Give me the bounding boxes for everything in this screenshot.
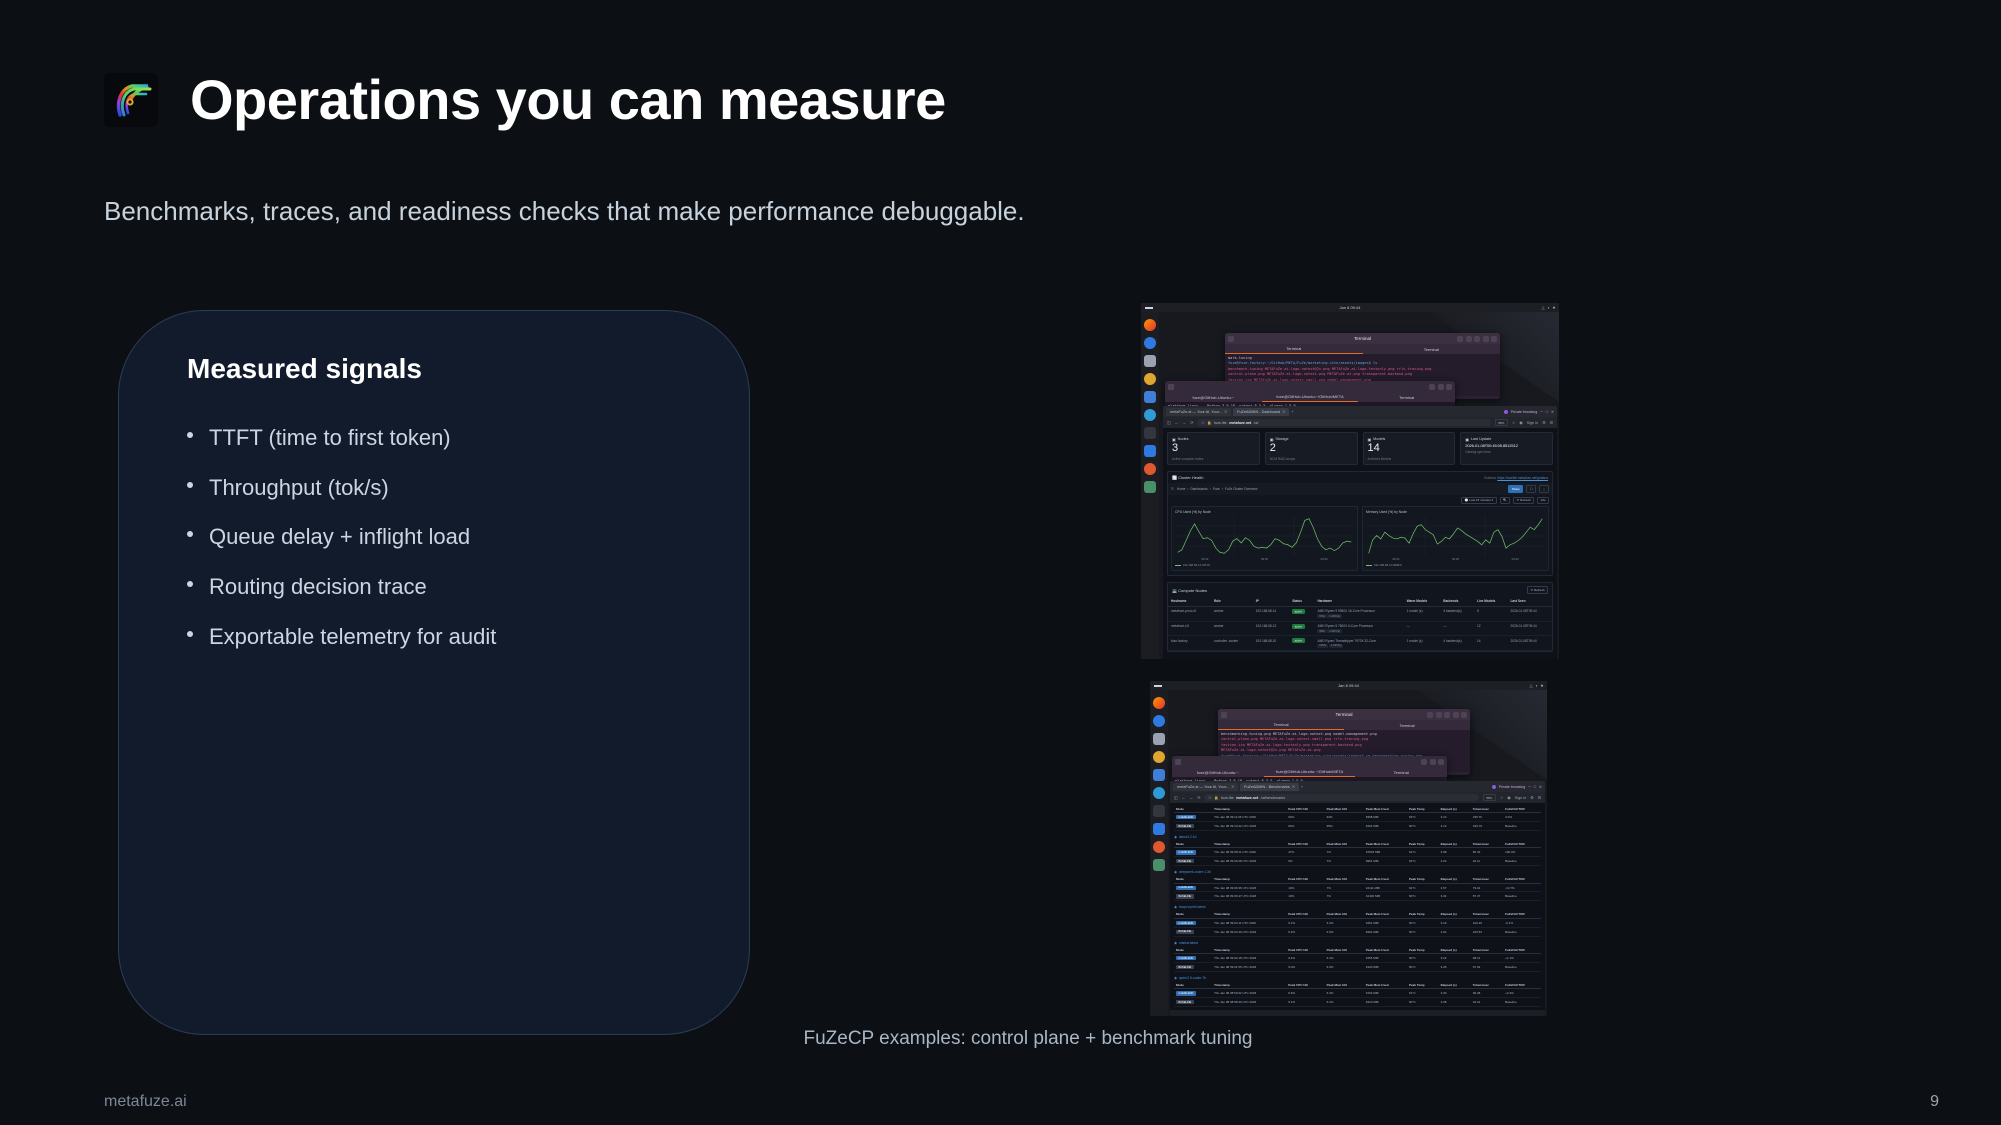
bm-col-header: Elapsed (s) [1439,805,1471,813]
breadcrumb-item[interactable]: Dashboards [1190,487,1207,491]
cell-tokens-per-sec: 98.14 [1471,954,1503,963]
table-header-row: ModeTimestampPeak CPU UtilPeak Mem UtilP… [1174,946,1541,954]
bm-col-header: Tokens/sec [1471,840,1503,848]
terminal-tab-2[interactable]: Terminal [1363,344,1501,354]
forward-icon[interactable]: → [1182,421,1186,425]
files-icon[interactable] [1153,733,1165,745]
breadcrumb-item[interactable]: FuZe Cluster Overview [1225,487,1258,491]
bm-col-header: Peak CPU Util [1286,840,1324,848]
lock-icon: 🔒 [1207,421,1211,425]
maximize-icon[interactable] [1430,759,1436,765]
terminal-secondary-tabstrip[interactable]: fuze@GitHub-Ubuntu:~ fuze@GitHub-Ubuntu:… [1172,767,1447,777]
cell-timestamp: Thu Jan 08 09:08:11 UTC 2026 [1212,848,1286,857]
more-options-icon[interactable]: ⋮ [1539,485,1549,493]
legend-label: 192.168.68.14 CPU% [1183,563,1210,567]
cell-ip: 192.168.68.13 [1253,621,1289,636]
mode-badge: FuZeBLEND [1176,956,1196,960]
stat-card-label: Nodes [1178,437,1189,441]
help-icon[interactable] [1153,787,1165,799]
cell-fuzefactor: +1.1% [1503,954,1541,963]
table-row[interactable]: metafuze-n3worker192.168.68.13activeAMD … [1168,621,1552,636]
table-row[interactable]: BASELINEThu Jan 08 08:58:30 UTC 20269.1%… [1174,998,1541,1007]
browser-tab-2[interactable]: FuZeADMIN - Dashboard ✕ [1233,408,1289,416]
bm-col-header: Peak Mem Util [1325,876,1364,884]
network-icon[interactable]: △ [1530,683,1533,688]
stat-card-sub: NCM RAID arrays [1270,457,1353,461]
bullet-icon [187,482,193,488]
bm-col-header: Peak CPU Util [1286,911,1324,919]
cell-fuzefactor: Baseline [1503,892,1541,901]
app-menu-icon[interactable]: ☰ [1538,795,1541,800]
models-icon: ▣ [1368,437,1372,442]
app-dock[interactable] [1141,312,1159,659]
browser-tab-1[interactable]: metaFuZe.ai — Your AI, Your... ✕ [1173,783,1238,791]
signal-item-label: Throughput (tok/s) [209,473,389,503]
stat-card: ▣Nodes3Active compute nodes [1167,432,1260,465]
sign-in-label[interactable]: Sign in [1515,796,1527,800]
search-icon[interactable] [1457,336,1463,342]
minimize-icon[interactable] [1429,384,1435,390]
reload-icon[interactable]: ⟳ [1190,420,1193,425]
activities-icon[interactable] [1154,685,1162,687]
benchmark-group-label: llama3.2:1b [1179,835,1197,839]
bm-col-header: Elapsed (s) [1439,981,1471,989]
cell-tokens-per-sec: 79.01 [1471,883,1503,892]
vscode-icon[interactable] [1153,823,1165,835]
zoom-level-badge[interactable]: 88% [1495,419,1508,427]
cell-peak-mem-used: 9961 MiB [1364,857,1407,866]
minimize-icon[interactable]: ─ [1528,785,1531,789]
cell-hostname[interactable]: fuze-factory [1168,636,1211,651]
refresh-interval-select[interactable]: 10s [1537,497,1549,505]
cell-peak-mem-util: 94% [1325,813,1364,822]
share-button[interactable]: Share [1508,485,1523,493]
breadcrumb-item[interactable]: Home [1177,487,1186,491]
table-row[interactable]: fuze-factorycontroller, worker192.168.68… [1168,636,1552,651]
browser-window-controls[interactable]: Private browsing ─ □ ✕ [1492,785,1542,789]
close-icon[interactable] [1491,336,1497,342]
software-icon[interactable] [1153,769,1165,781]
bm-col-header: Peak Temp [1407,911,1439,919]
table-header-row: HostnameRoleIPStatusHardwareWarm ModelsB… [1168,597,1552,607]
terminal-icon[interactable] [1144,427,1156,439]
bm-col-header: Peak Mem Used [1364,981,1407,989]
minimize-icon[interactable]: ─ [1540,410,1543,414]
cell-fuzefactor: Baseline [1503,927,1541,936]
chart-xaxis: 09:3009:3509:40 [1175,557,1354,561]
stat-card-value: 2026-01-08T00:45:05.8512512 [1465,443,1548,448]
window-controls[interactable] [1457,336,1497,342]
terminal-sec-tab-1-label: fuze@GitHub-Ubuntu:~ [1192,395,1234,400]
stat-card-value: 3 [1172,443,1255,455]
extensions-icon[interactable]: ⚙ [1542,420,1545,425]
measured-signals-card: Measured signals TTFT (time to first tok… [118,310,750,1035]
cluster-health-title-text: Cluster Health [1178,475,1203,480]
terminal-sec-tab-1[interactable]: fuze@GitHub-Ubuntu:~ [1172,767,1264,777]
terminal-tabstrip[interactable]: Terminal Terminal [1218,720,1470,730]
table-body: metafuze-prod-n2worker192.168.68.14activ… [1168,606,1552,650]
cell-timestamp: Thu Jan 08 09:04:11 UTC 2026 [1212,918,1286,927]
firefox-icon[interactable] [1153,697,1165,709]
settings-icon[interactable] [1153,751,1165,763]
url-path: /ui/benchmarks [1261,796,1285,800]
terminal-sec-tab-2[interactable]: fuze@GitHub-Ubuntu:~/GitHub/META [1264,767,1356,777]
terminal-titlebar[interactable]: Terminal [1225,333,1500,344]
back-icon[interactable]: ← [1182,796,1186,800]
footer-brand: metafuze.ai [104,1093,187,1111]
cell-warm-models: 1 model (s) [1404,606,1441,621]
server-icon: 💻 [1172,588,1177,593]
window-controls[interactable] [1421,759,1444,765]
cell-elapsed: 3.22 [1439,954,1471,963]
cell-hardware: AMD Ryzen Threadripper 7970X 32-Core125G… [1314,636,1403,651]
ubuntu-icon[interactable] [1144,463,1156,475]
address-bar[interactable]: ☉ 🔒 fuze-lite metafuze.net /ui/benchmark… [1204,794,1478,801]
legend-swatch [1175,565,1181,566]
new-tab-button[interactable]: + [1291,410,1293,414]
table-col-header: IP [1253,597,1289,607]
files-icon[interactable] [1144,355,1156,367]
browser-tab-1[interactable]: metaFuZe.ai — Your AI, Your... ✕ [1166,408,1231,416]
cell-fuzefactor: 3.0% [1503,813,1541,822]
table-row[interactable]: BASELINEThu Jan 08 09:06:28 UTC 20269%7%… [1174,857,1541,866]
cell-mode: BASELINE [1174,892,1212,901]
terminal-titlebar[interactable]: Terminal [1218,709,1470,720]
cell-peak-cpu: 47% [1286,848,1324,857]
metafuze-logo-icon [104,73,158,127]
bm-col-header: Elapsed (s) [1439,911,1471,919]
cell-timestamp: Thu Jan 08 09:06:47 UTC 2026 [1212,892,1286,901]
breadcrumb-item[interactable]: Fuze [1213,487,1220,491]
terminal-sec-tab-3[interactable]: Terminal [1358,392,1455,402]
cell-timestamp: Thu Jan 08 09:06:28 UTC 2026 [1212,857,1286,866]
trash-icon[interactable] [1144,481,1156,493]
back-icon[interactable]: ← [1175,421,1179,425]
chart-svg [1175,516,1354,556]
zoom-level-badge[interactable]: 88% [1483,794,1496,802]
grafana-link-prefix: Grafana: [1484,476,1496,480]
stat-card-header: ▣Models [1368,437,1451,442]
account-icon[interactable]: ◉ [1519,420,1522,425]
system-tray[interactable]: △ ◐ ⏺ [1530,683,1544,688]
terminal-sec-tab-1[interactable]: fuze@GitHub-Ubuntu:~ [1165,392,1262,402]
maximize-icon[interactable]: □ [1534,785,1536,789]
close-icon[interactable]: ✕ [1231,784,1234,789]
bm-col-header: Tokens/sec [1471,981,1503,989]
terminal-icon[interactable] [1153,805,1165,817]
extensions-icon[interactable]: ⚙ [1530,795,1533,800]
table-row[interactable]: FuZeBLENDThu Jan 08 08:59:02 UTC 20269.6… [1174,989,1541,998]
grafana-menu-icon[interactable]: ☰ [1171,487,1174,491]
compute-nodes-refresh-button[interactable]: ⟳ Refresh [1527,586,1548,594]
cell-fuzefactor: -13.7% [1503,883,1541,892]
cell-peak-mem-used: 9455 MiB [1364,954,1407,963]
tv-mode-icon[interactable]: ☐ [1526,485,1536,493]
storage-icon: ▣ [1270,437,1274,442]
cell-timestamp: Thu Jan 08 09:01:55 UTC 2026 [1212,962,1286,971]
table-row[interactable]: BASELINEThu Jan 08 09:10:42 UTC 202694%9… [1174,821,1541,830]
cell-peak-temp: 60°C [1407,962,1439,971]
mode-badge: FuZeBLEND [1176,886,1196,890]
table-row[interactable]: FuZeBLENDThu Jan 08 09:11:06 UTC 202693%… [1174,813,1541,822]
table-row[interactable]: metafuze-prod-n2worker192.168.68.14activ… [1168,606,1552,621]
bm-col-header: Peak Mem Util [1325,840,1364,848]
compute-nodes-title: 💻 Compute Nodes [1172,588,1207,593]
cell-backends: — [1440,621,1474,636]
grafana-link[interactable]: https://fuzelite.metafuze.net/grafana [1497,476,1548,480]
terminal-sec-tab-3[interactable]: Terminal [1355,767,1447,777]
ubuntu-icon[interactable] [1153,841,1165,853]
bm-col-header: Tokens/sec [1471,876,1503,884]
bookmark-star-icon[interactable]: ☆ [1500,795,1503,800]
system-tray[interactable]: △ ◐ ⏺ [1542,305,1556,310]
grafana-link-wrap[interactable]: Grafana: https://fuzelite.metafuze.net/g… [1484,476,1548,480]
close-icon[interactable]: ✕ [1224,409,1227,414]
bm-col-header: Elapsed (s) [1439,946,1471,954]
vscode-icon[interactable] [1144,445,1156,457]
trash-icon[interactable] [1153,859,1165,871]
firefox-icon[interactable] [1144,319,1156,331]
close-icon[interactable]: ✕ [1292,784,1295,789]
close-icon[interactable] [1438,759,1444,765]
slide-header: Operations you can measure [104,72,946,128]
browser-icon[interactable] [1153,715,1165,727]
table-row[interactable]: BASELINEThu Jan 08 09:04:40 UTC 20269.2%… [1174,927,1541,936]
cell-peak-temp: 60°C [1407,892,1439,901]
stat-card-label: Storage [1275,437,1288,441]
breadcrumb[interactable]: Home›Dashboards›Fuze›FuZe Cluster Overvi… [1177,487,1505,491]
bm-col-header: Peak Mem Used [1364,911,1407,919]
bm-col-header: Peak Temp [1407,981,1439,989]
cell-status: active [1289,636,1314,651]
bm-col-header: Timestamp [1212,911,1286,919]
help-icon[interactable] [1144,409,1156,421]
url-prefix: fuze-lite [1214,421,1227,425]
account-icon[interactable]: ◉ [1507,795,1510,800]
cell-status: active [1289,606,1314,621]
bookmark-star-icon[interactable]: ☆ [1512,420,1515,425]
cell-ip: 192.168.68.10 [1253,636,1289,651]
terminal-sec-tab-2-label: fuze@GitHub-Ubuntu:~/GitHub/META [1276,394,1343,399]
cell-hostname[interactable]: metafuze-prod-n2 [1168,606,1211,621]
maximize-icon[interactable]: □ [1546,410,1548,414]
cluster-health-panel: 📈 Cluster Health Grafana: https://fuzeli… [1167,471,1553,576]
browser-tabstrip[interactable]: metaFuZe.ai — Your AI, Your... ✕ FuZeADM… [1170,781,1545,792]
mode-badge: BASELINE [1176,894,1194,898]
browser-navbar[interactable]: ◫ ← → ⟳ ☉ 🔒 fuze-lite metafuze.net /ui/b… [1170,792,1545,803]
stat-card-value: 14 [1368,443,1451,455]
maximize-icon[interactable] [1453,712,1459,718]
hw-chip-1: 30Gi [1317,629,1326,633]
volume-icon[interactable]: ◐ [1536,683,1538,688]
app-dock[interactable] [1150,690,1168,1016]
browser-tab-2-label: FuZeADMIN - Dashboard [1237,410,1280,414]
cell-mode: BASELINE [1174,927,1212,936]
minimize-icon[interactable] [1444,712,1450,718]
close-icon[interactable]: ✕ [1539,785,1542,789]
chart-svg [1366,516,1545,556]
benchmark-table: ModeTimestampPeak CPU UtilPeak Mem UtilP… [1174,981,1541,1007]
browser-tabstrip[interactable]: metaFuZe.ai — Your AI, Your... ✕ FuZeADM… [1163,406,1557,417]
signal-item: Routing decision trace [187,572,709,602]
time-range-picker[interactable]: 🕓 Last 15 minutes ▾ [1461,497,1496,505]
terminal-tab-2[interactable]: Terminal [1344,720,1470,730]
browser-window-controls[interactable]: Private browsing ─ □ ✕ [1504,410,1554,414]
private-browsing-icon [1504,410,1508,414]
table-row[interactable]: FuZeBLENDThu Jan 08 09:06:36 UTC 202610%… [1174,883,1541,892]
cell-peak-cpu: 9.0% [1286,962,1324,971]
close-icon[interactable] [1446,384,1452,390]
grafana-toolbar[interactable]: 🕓 Last 15 minutes ▾ 🔍 ⟳ Refresh 10s [1168,495,1552,507]
table-row[interactable]: BASELINEThu Jan 08 09:06:47 UTC 202610%7… [1174,892,1541,901]
table-row[interactable]: FuZeBLENDThu Jan 08 09:02:18 UTC 20269.4… [1174,954,1541,963]
browser-window[interactable]: metaFuZe.ai — Your AI, Your... ✕ FuZeADM… [1170,781,1545,1016]
stat-card-sub: Active compute nodes [1172,457,1255,461]
cell-timestamp: Thu Jan 08 09:02:18 UTC 2026 [1212,954,1286,963]
bm-col-header: FuZeFACTOR [1503,981,1541,989]
cell-peak-cpu: 9.1% [1286,918,1324,927]
bm-col-header: Timestamp [1212,840,1286,848]
network-icon[interactable]: △ [1542,305,1545,310]
breadcrumb-separator: › [1210,487,1211,491]
benchmark-table: ModeTimestampPeak CPU UtilPeak Mem UtilP… [1174,876,1541,902]
activities-icon[interactable] [1145,307,1153,309]
cell-peak-mem-used: 10503 MiB [1364,848,1407,857]
signal-item-label: Queue delay + inflight load [209,522,470,552]
compute-nodes-refresh-label: Refresh [1534,588,1545,592]
browser-navbar[interactable]: ◫ ← → ⟳ ☉ 🔒 fuze-lite metafuze.net /ui/ … [1163,417,1557,428]
menu-icon[interactable] [1436,712,1442,718]
forward-icon[interactable]: → [1189,796,1193,800]
benchmark-group-title: ◉deepseek-coder:1.3b [1174,870,1541,874]
minimize-icon[interactable] [1474,336,1480,342]
minimize-icon[interactable] [1421,759,1427,765]
desktop-clock: Jan 8 09:44 [1340,305,1361,310]
close-icon[interactable] [1461,712,1467,718]
cell-peak-cpu: 94% [1286,821,1324,830]
close-icon[interactable]: ✕ [1551,410,1554,414]
terminal-tab-1[interactable]: Terminal [1218,720,1344,730]
table-row[interactable]: BASELINEThu Jan 08 09:01:55 UTC 20269.0%… [1174,962,1541,971]
cell-peak-cpu: 10% [1286,892,1324,901]
app-menu-icon[interactable]: ☰ [1550,420,1553,425]
legend-label: 192.168.68.14 MEM% [1374,563,1402,567]
benchmark-group-label: deepseek-coder:1.3b [1179,870,1211,874]
cell-peak-temp: 61°C [1407,989,1439,998]
url-prefix: fuze-lite [1221,796,1234,800]
cell-mode: BASELINE [1174,998,1212,1007]
new-tab-button[interactable]: + [1301,785,1303,789]
maximize-icon[interactable] [1438,384,1444,390]
reload-icon[interactable]: ⟳ [1197,795,1200,800]
terminal-sec-tab-2-label: fuze@GitHub-Ubuntu:~/GitHub/META [1276,769,1343,774]
cell-peak-cpu: 10% [1286,883,1324,892]
bm-col-header: Tokens/sec [1471,805,1503,813]
cell-mode: FuZeBLEND [1174,848,1212,857]
terminal-tab-1[interactable]: Terminal [1225,344,1363,354]
cell-hostname[interactable]: metafuze-n3 [1168,621,1211,636]
zoom-out-button[interactable]: 🔍 [1500,497,1511,505]
menu-icon[interactable] [1466,336,1472,342]
terminal-secondary-tabstrip[interactable]: fuze@GitHub-Ubuntu:~ fuze@GitHub-Ubuntu:… [1165,392,1455,402]
url-host: metafuze.net [1236,796,1258,800]
maximize-icon[interactable] [1483,336,1489,342]
sidebar-toggle-icon[interactable]: ◫ [1167,420,1171,425]
browser-window[interactable]: metaFuZe.ai — Your AI, Your... ✕ FuZeADM… [1163,406,1557,659]
power-icon[interactable]: ⏺ [1553,305,1555,310]
settings-icon[interactable] [1144,373,1156,385]
table-row[interactable]: FuZeBLENDThu Jan 08 09:08:11 UTC 202647%… [1174,848,1541,857]
refresh-button[interactable]: ⟳ Refresh [1513,497,1534,505]
chart-icon: 📈 [1172,475,1177,480]
window-controls[interactable] [1427,712,1467,718]
cell-peak-temp: 60°C [1407,998,1439,1007]
volume-icon[interactable]: ◐ [1548,305,1550,310]
bm-col-header: Peak Mem Util [1325,911,1364,919]
cell-hardware: AMD Ryzen 9 9950X 16-Core Processor67Gi … [1314,606,1403,621]
cell-timestamp: Thu Jan 08 09:04:40 UTC 2026 [1212,927,1286,936]
chart-xaxis: 09:3009:3509:40 [1366,557,1545,561]
window-controls[interactable] [1429,384,1452,390]
model-icon: ◉ [1174,870,1177,874]
chart-xtick: 09:30 [1392,557,1399,561]
cell-elapsed: 3.13 [1439,813,1471,822]
refresh-label: Refresh [1520,498,1531,502]
cell-tokens-per-sec: 100.53 [1471,927,1503,936]
model-icon: ◉ [1174,905,1177,909]
search-icon[interactable] [1427,712,1433,718]
page-number: 9 [1930,1093,1939,1111]
terminal-tabstrip[interactable]: Terminal Terminal [1225,344,1500,354]
power-icon[interactable]: ⏺ [1541,683,1543,688]
cell-role: controller, worker [1211,636,1253,651]
sign-in-label[interactable]: Sign in [1527,421,1539,425]
bm-col-header: Peak CPU Util [1286,805,1324,813]
browser-icon[interactable] [1144,337,1156,349]
desktop-topbar: Jan 8 09:44 △ ◐ ⏺ [1141,303,1559,312]
terminal-secondary-titlebar[interactable] [1165,381,1455,392]
table-col-header: Hostname [1168,597,1211,607]
grafana-breadcrumb-bar[interactable]: ☰ Home›Dashboards›Fuze›FuZe Cluster Over… [1168,483,1552,495]
cell-peak-cpu: 9.4% [1286,954,1324,963]
table-header-row: ModeTimestampPeak CPU UtilPeak Mem UtilP… [1174,876,1541,884]
cell-warm-models: — [1404,621,1441,636]
chart-plot [1366,516,1545,556]
chart-xtick: 09:40 [1321,557,1328,561]
benchmark-group-title: ◉llama3.2:1b [1174,835,1541,839]
cell-peak-mem-used: 4504 MiB [1364,821,1407,830]
terminal-sec-tab-2[interactable]: fuze@GitHub-Ubuntu:~/GitHub/META [1262,392,1359,402]
software-icon[interactable] [1144,391,1156,403]
stat-card: ▣Storage2NCM RAID arrays [1265,432,1358,465]
terminal-secondary-titlebar[interactable] [1172,756,1447,767]
sidebar-toggle-icon[interactable]: ◫ [1174,795,1178,800]
bm-col-header: Peak Mem Used [1364,805,1407,813]
address-bar[interactable]: ☉ 🔒 fuze-lite metafuze.net /ui/ [1197,419,1490,426]
status-badge: active [1292,624,1304,629]
cell-peak-cpu: 9% [1286,857,1324,866]
cell-peak-temp: 62°C [1407,857,1439,866]
cluster-health-title: 📈 Cluster Health [1172,475,1203,480]
close-icon[interactable]: ✕ [1282,409,1285,414]
browser-tab-2-label: FuZeADMIN - Benchmarks [1244,785,1290,789]
table-row[interactable]: FuZeBLENDThu Jan 08 09:04:11 UTC 20269.1… [1174,918,1541,927]
cell-tokens-per-sec: 97.02 [1471,962,1503,971]
signal-item-label: Routing decision trace [209,572,427,602]
browser-tab-2[interactable]: FuZeADMIN - Benchmarks ✕ [1240,783,1299,791]
bm-col-header: Elapsed (s) [1439,876,1471,884]
table-body: FuZeBLENDThu Jan 08 08:59:02 UTC 20269.6… [1174,989,1541,1007]
